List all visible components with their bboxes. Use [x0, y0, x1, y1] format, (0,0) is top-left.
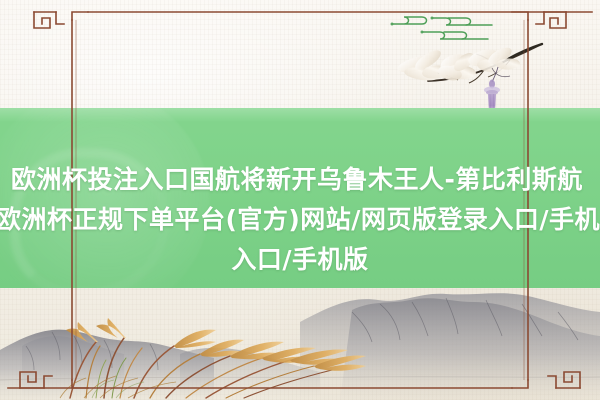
poster-canvas: 欧洲杯投注入口国航将新开乌鲁木王人-第比利斯航 欧洲杯正规下单平台(官方)网站/… [0, 0, 600, 400]
headline-line-1: 欧洲杯投注入口国航将新开乌鲁木王人-第比利斯航 [11, 160, 583, 200]
headline-line-3: 入口/手机版 [231, 240, 368, 280]
headline-line-2: 欧洲杯正规下单平台(官方)网站/网页版登录入口/手机 [0, 200, 600, 240]
ink-wash-landscape [0, 288, 600, 400]
ruyi-cloud-motif [388, 12, 518, 48]
headline-block: 欧洲杯投注入口国航将新开乌鲁木王人-第比利斯航 欧洲杯正规下单平台(官方)网站/… [0, 108, 600, 288]
